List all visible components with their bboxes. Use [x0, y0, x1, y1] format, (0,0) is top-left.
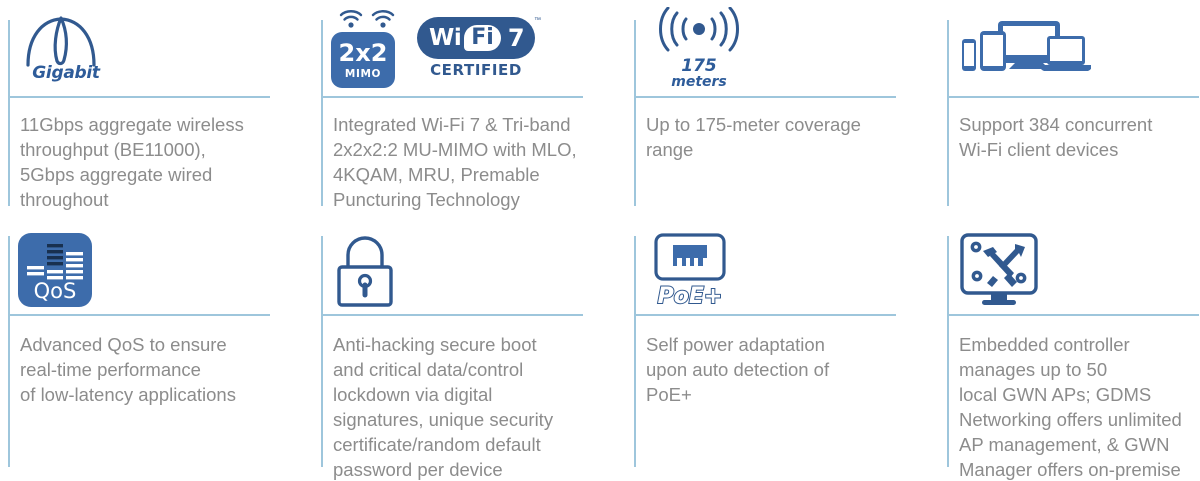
feature-description: Advanced QoS to ensure real-time perform… [20, 332, 301, 407]
icon-area: QoS [8, 222, 92, 318]
feature-card-coverage: 175 meters Up to 175-meter coverage rang… [626, 0, 939, 214]
feature-description: Support 384 concurrent Wi-Fi client devi… [959, 112, 1188, 162]
feature-description: Integrated Wi-Fi 7 & Tri-band 2x2x2:2 MU… [333, 112, 614, 212]
card-divider [634, 96, 896, 98]
wifi-brand-fi: Fi [464, 25, 501, 51]
feature-grid: Gigabit 11Gbps aggregate wireless throug… [0, 0, 1200, 481]
icon-area [321, 222, 399, 318]
gigabit-throughput-icon: Gigabit [18, 13, 114, 83]
wifi7-mimo-icon: 2x2 MIMO [331, 8, 403, 88]
feature-card-wifi7: 2x2 MIMO Wi Fi 7 ™ CERTIFIED Integrated … [313, 0, 626, 214]
feature-card-poe: PoE+ Self power adaptation upon auto det… [626, 214, 939, 481]
wifi7-certified-logo: Wi Fi 7 ™ CERTIFIED [417, 17, 535, 79]
icon-area: Gigabit [8, 0, 114, 96]
mimo-sub-label: MIMO [345, 68, 381, 80]
embedded-controller-icon [957, 231, 1041, 309]
feature-card-clients: Support 384 concurrent Wi-Fi client devi… [939, 0, 1200, 214]
feature-description: Up to 175-meter coverage range [646, 112, 927, 162]
poe-label: PoE+ [644, 284, 736, 309]
range-value: 175 [644, 58, 754, 75]
multi-device-icon [957, 17, 1091, 79]
qos-label: QoS [18, 279, 92, 303]
icon-area: 2x2 MIMO Wi Fi 7 ™ CERTIFIED [321, 0, 535, 96]
icon-area [947, 222, 1041, 318]
wifi-brand-wi: Wi [429, 25, 461, 51]
qos-icon: QoS [18, 233, 92, 307]
mimo-value: 2x2 [339, 41, 388, 65]
range-unit: meters [644, 75, 754, 90]
certified-label: CERTIFIED [417, 61, 535, 79]
wifi-generation: 7 [508, 24, 525, 52]
wifi-signal-icons [331, 8, 403, 30]
mimo-badge: 2x2 MIMO [331, 32, 395, 88]
feature-description: Self power adaptation upon auto detectio… [646, 332, 927, 407]
feature-description: Embedded controller manages up to 50 loc… [959, 332, 1188, 481]
feature-description: Anti-hacking secure boot and critical da… [333, 332, 614, 481]
feature-card-security: Anti-hacking secure boot and critical da… [313, 214, 626, 481]
card-divider [947, 96, 1199, 98]
feature-description: 11Gbps aggregate wireless throughput (BE… [20, 112, 301, 212]
feature-card-gigabit: Gigabit 11Gbps aggregate wireless throug… [0, 0, 313, 214]
icon-area [947, 0, 1091, 96]
card-divider [8, 96, 270, 98]
padlock-security-icon [331, 231, 399, 309]
gigabit-label: Gigabit [18, 63, 114, 83]
feature-card-qos: QoS Advanced QoS to ensure real-time per… [0, 214, 313, 481]
trademark-symbol: ™ [534, 17, 541, 24]
feature-card-controller: Embedded controller manages up to 50 loc… [939, 214, 1200, 481]
coverage-range-icon: 175 meters [644, 7, 754, 90]
poe-plus-icon: PoE+ [644, 231, 736, 309]
card-divider [321, 96, 583, 98]
icon-area: PoE+ [634, 222, 736, 318]
icon-area: 175 meters [634, 0, 754, 96]
